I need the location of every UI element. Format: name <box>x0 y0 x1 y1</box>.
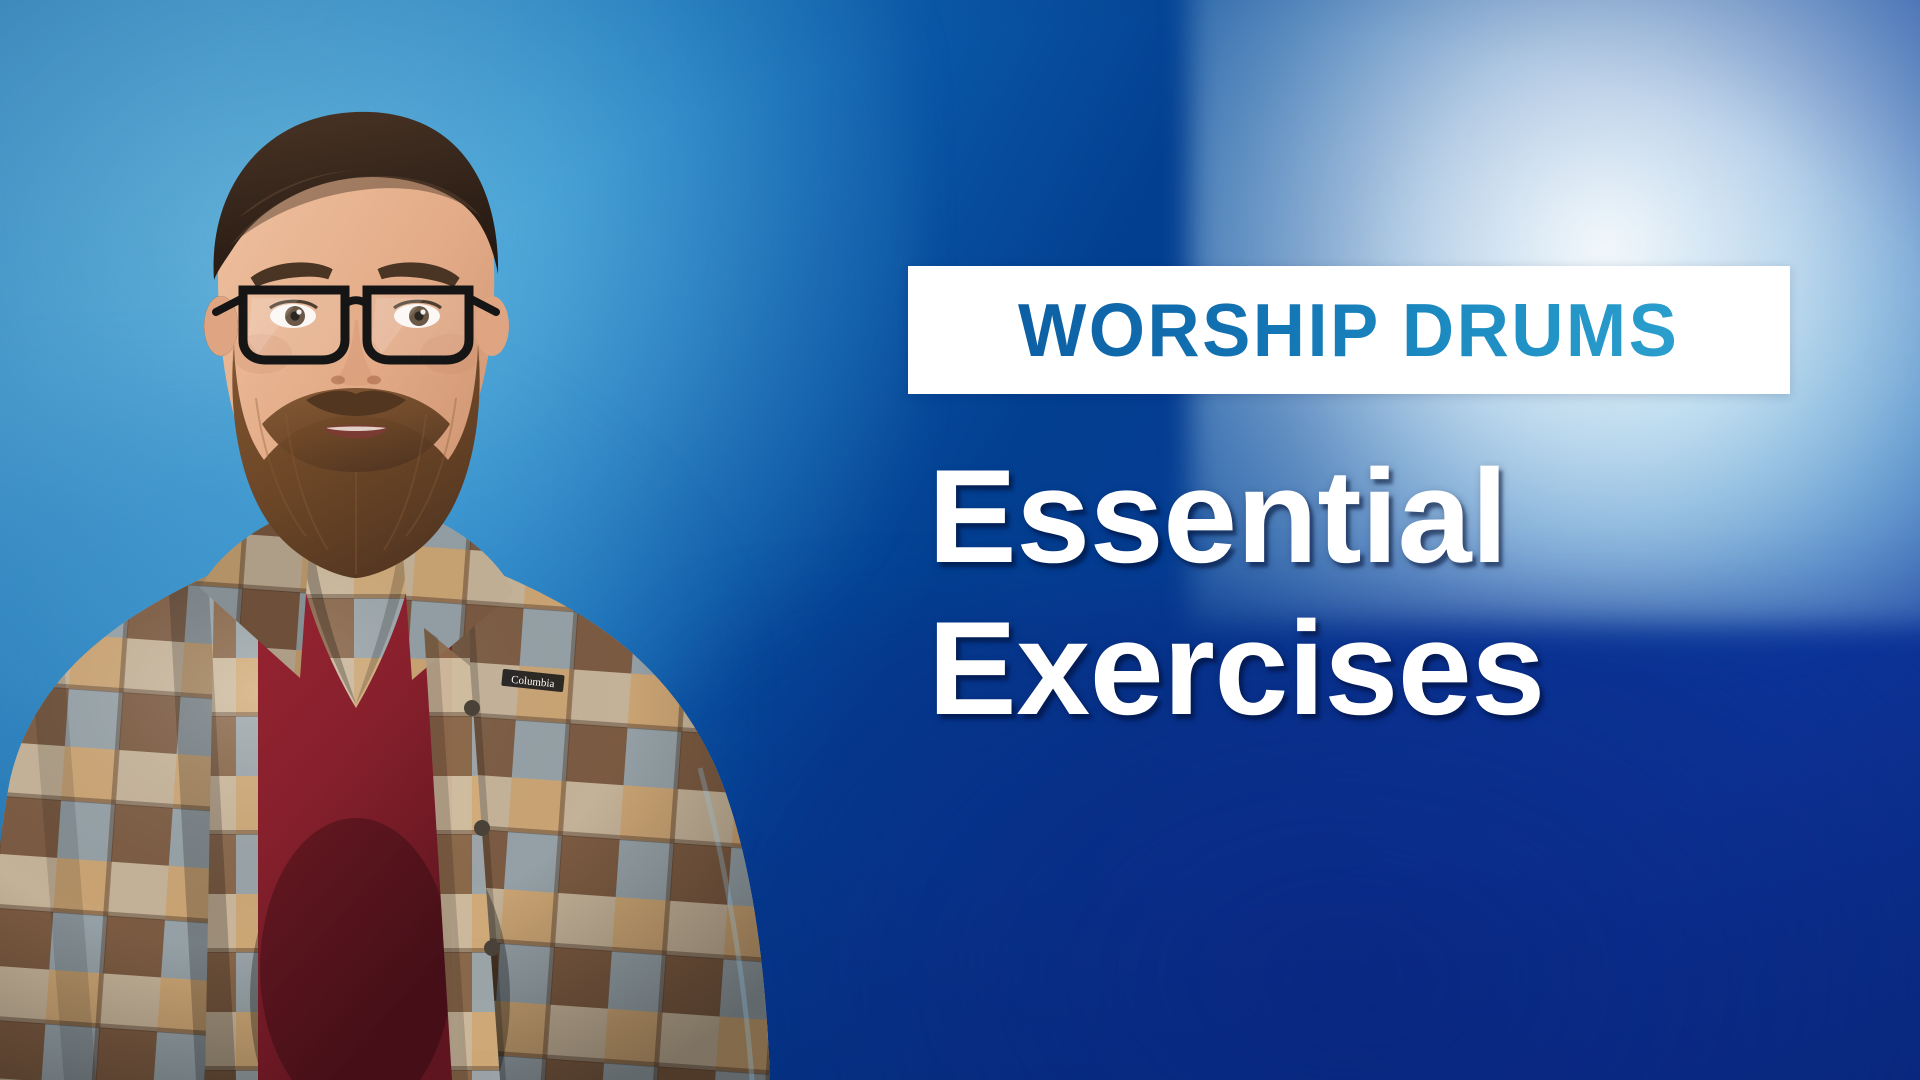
shirt-button <box>464 700 480 716</box>
title-text-block: WORSHIP DRUMS Essential Exercises <box>908 266 1808 745</box>
youtube-thumbnail: Columbia <box>0 0 1920 1080</box>
presenter-photo: Columbia <box>0 68 790 1080</box>
shirt-button <box>484 940 500 956</box>
shirt-button <box>474 820 490 836</box>
eyebrow-banner: WORSHIP DRUMS <box>908 266 1790 394</box>
headline-line-2: Exercises <box>928 594 1808 746</box>
headline-line-1: Essential <box>928 442 1808 594</box>
eyebrow-label: WORSHIP DRUMS <box>1018 293 1679 368</box>
page-title: Essential Exercises <box>928 442 1808 745</box>
